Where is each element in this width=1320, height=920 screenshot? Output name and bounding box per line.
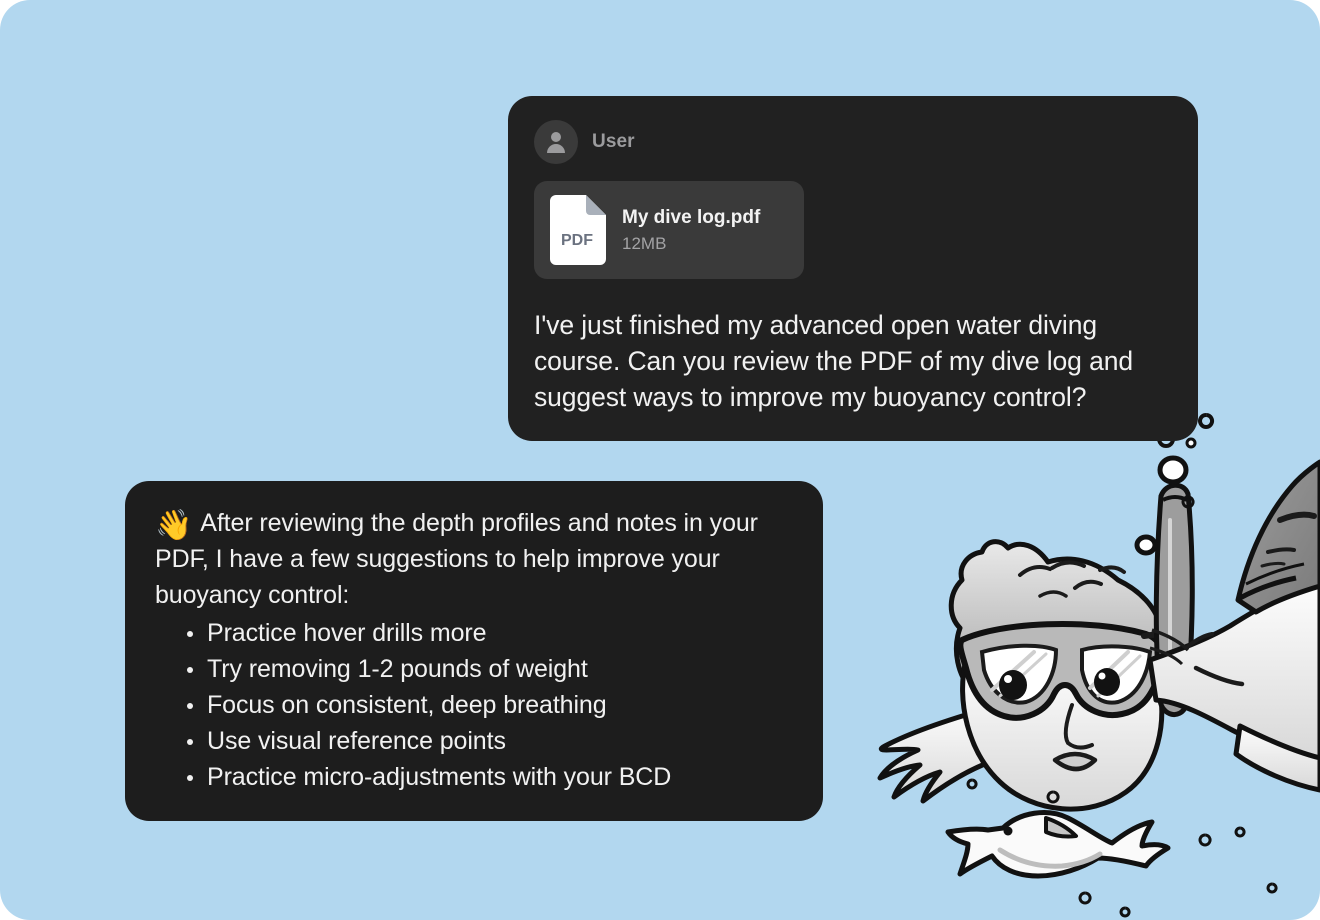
waving-hand-emoji: 👋 (155, 509, 192, 542)
file-name-label: My dive log.pdf (622, 207, 760, 229)
list-item: Use visual reference points (181, 723, 795, 759)
user-header: User (534, 118, 1172, 166)
suggestion-list: Practice hover drills more Try removing … (155, 615, 795, 795)
illustration-group (880, 393, 1320, 916)
snorkel (1156, 485, 1192, 714)
fish (948, 813, 1168, 876)
person-avatar-icon (534, 120, 578, 164)
list-item: Focus on consistent, deep breathing (181, 687, 795, 723)
svg-text:PDF: PDF (561, 232, 593, 249)
diver-left-arm (880, 705, 1040, 801)
file-attachment-card[interactable]: PDF My dive log.pdf 12MB (534, 181, 804, 279)
assistant-intro-body: After reviewing the depth profiles and n… (155, 509, 758, 609)
list-item: Try removing 1-2 pounds of weight (181, 651, 795, 687)
user-name-label: User (592, 131, 635, 153)
user-message-bubble: User PDF My dive log.pdf 12MB I've just … (508, 96, 1198, 441)
file-size-label: 12MB (622, 234, 760, 254)
app-canvas: User PDF My dive log.pdf 12MB I've just … (0, 0, 1320, 920)
air-bubbles (968, 393, 1276, 916)
list-item: Practice micro-adjustments with your BCD (181, 759, 795, 795)
diver-right-arm (1236, 726, 1320, 790)
diving-mask (960, 624, 1178, 718)
diver-head (951, 542, 1163, 809)
user-message-text: I've just finished my advanced open wate… (534, 307, 1172, 415)
assistant-message-bubble: 👋After reviewing the depth profiles and … (125, 481, 823, 821)
wetsuit-sleeve (1238, 462, 1320, 612)
file-meta: My dive log.pdf 12MB (622, 207, 760, 254)
list-item: Practice hover drills more (181, 615, 795, 651)
diver-torso (1150, 582, 1320, 760)
assistant-intro-text: 👋After reviewing the depth profiles and … (155, 505, 795, 613)
pdf-file-icon: PDF (550, 195, 606, 265)
